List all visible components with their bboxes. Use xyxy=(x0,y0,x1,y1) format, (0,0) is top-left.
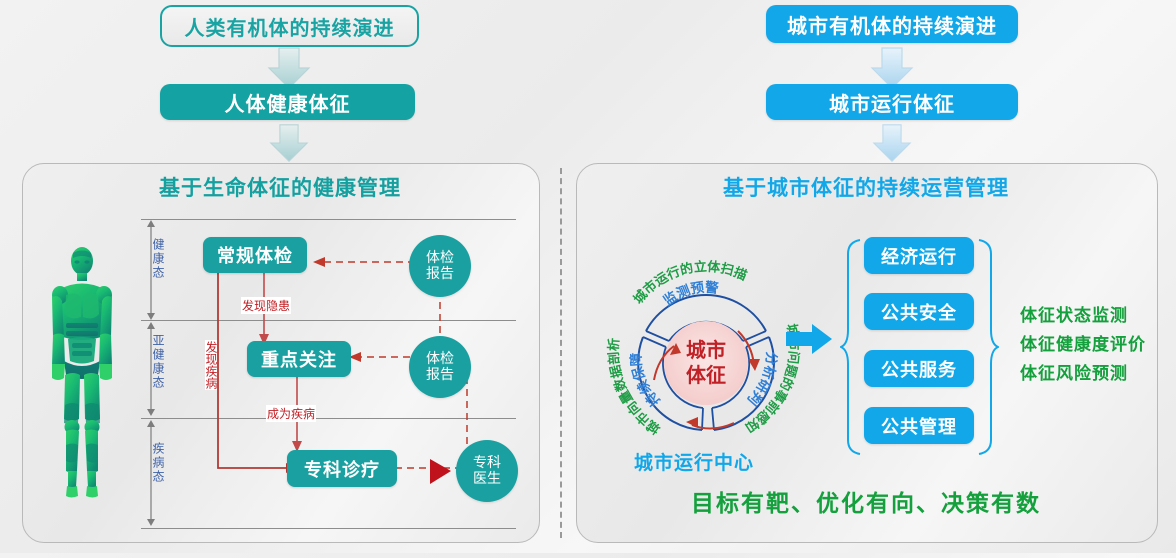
domain-box-public-safety[interactable]: 公共安全 xyxy=(864,293,974,330)
domain-box-public-management[interactable]: 公共管理 xyxy=(864,407,974,444)
ring-core-line2: 体征 xyxy=(686,363,726,387)
flow-arrow-icon xyxy=(786,322,834,361)
circle-line-2: 医生 xyxy=(473,471,501,487)
circle-line-1: 体检 xyxy=(426,250,454,266)
panel-divider xyxy=(560,168,562,538)
ring-core-line1: 城市 xyxy=(686,338,726,362)
edge-label-find-disease: 发现疾病 xyxy=(205,340,217,390)
node-key-attention[interactable]: 重点关注 xyxy=(247,341,351,377)
right-arrow-2 xyxy=(870,123,914,163)
circle-line-1: 体检 xyxy=(426,351,454,367)
ring-outer-label-3: 城市向量数据剖析 xyxy=(606,338,663,438)
domains-left-brace xyxy=(840,238,862,461)
domains-right-brace xyxy=(977,238,999,461)
capability-line-2: 体征健康度评价 xyxy=(1020,330,1146,355)
circle-line-2: 报告 xyxy=(426,367,454,383)
node-routine-checkup[interactable]: 常规体检 xyxy=(203,237,307,273)
capability-line-1: 体征状态监测 xyxy=(1020,301,1128,326)
diagram-canvas: 人类有机体的持续演进 人体健康体征 城市有机体的持续演进 城市运行体征 xyxy=(0,0,1176,553)
right-second-box: 城市运行体征 xyxy=(766,84,1018,120)
ring-inner-label-1: 监测预警 xyxy=(660,279,720,309)
circle-specialist-doctor[interactable]: 专科 医生 xyxy=(456,440,518,502)
right-panel-title: 基于城市体征的持续运营管理 xyxy=(576,172,1156,202)
capability-line-3: 体征风险预测 xyxy=(1020,359,1128,384)
circle-line-1: 专科 xyxy=(473,455,501,471)
circle-line-2: 报告 xyxy=(426,266,454,282)
edge-label-hidden-risk: 发现隐患 xyxy=(241,297,291,314)
node-specialist-care[interactable]: 专科诊疗 xyxy=(287,450,397,487)
edge-label-become-disease: 成为疾病 xyxy=(266,405,316,422)
domain-box-economy[interactable]: 经济运行 xyxy=(864,237,974,274)
circle-checkup-report-1[interactable]: 体检 报告 xyxy=(409,235,471,297)
city-operation-center-label: 城市运行中心 xyxy=(634,448,754,475)
right-top-box: 城市有机体的持续演进 xyxy=(766,5,1018,43)
domain-box-public-service[interactable]: 公共服务 xyxy=(864,350,974,387)
right-panel-tagline: 目标有靶、优化有向、决策有数 xyxy=(576,484,1156,518)
circle-checkup-report-2[interactable]: 体检 报告 xyxy=(409,336,471,398)
